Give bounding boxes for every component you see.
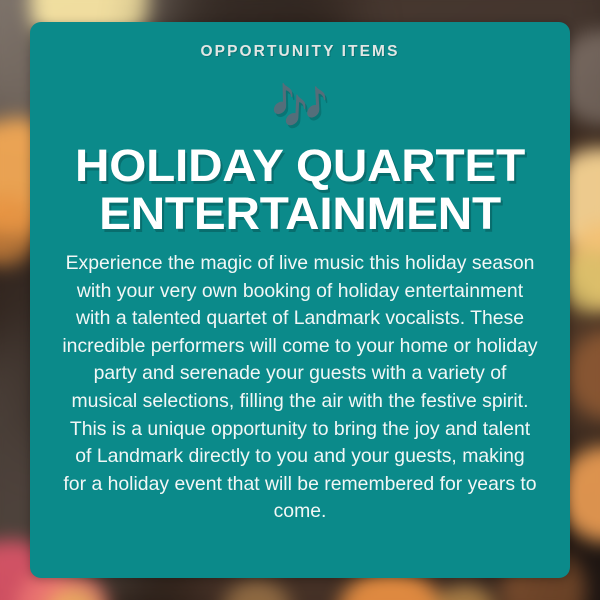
poster-stage: OPPORTUNITY ITEMS 🎶 HOLIDAY QUARTET ENTE… (0, 0, 600, 600)
title-line-2: ENTERTAINMENT (33, 190, 567, 238)
description-text: Experience the magic of live music this … (62, 250, 538, 526)
eyebrow-label: OPPORTUNITY ITEMS (30, 43, 570, 61)
page-title: HOLIDAY QUARTET ENTERTAINMENT (33, 142, 567, 238)
title-line-1: HOLIDAY QUARTET (33, 142, 567, 190)
opportunity-item-card: OPPORTUNITY ITEMS 🎶 HOLIDAY QUARTET ENTE… (30, 22, 570, 578)
musical-notes-icon: 🎶 (30, 80, 570, 132)
